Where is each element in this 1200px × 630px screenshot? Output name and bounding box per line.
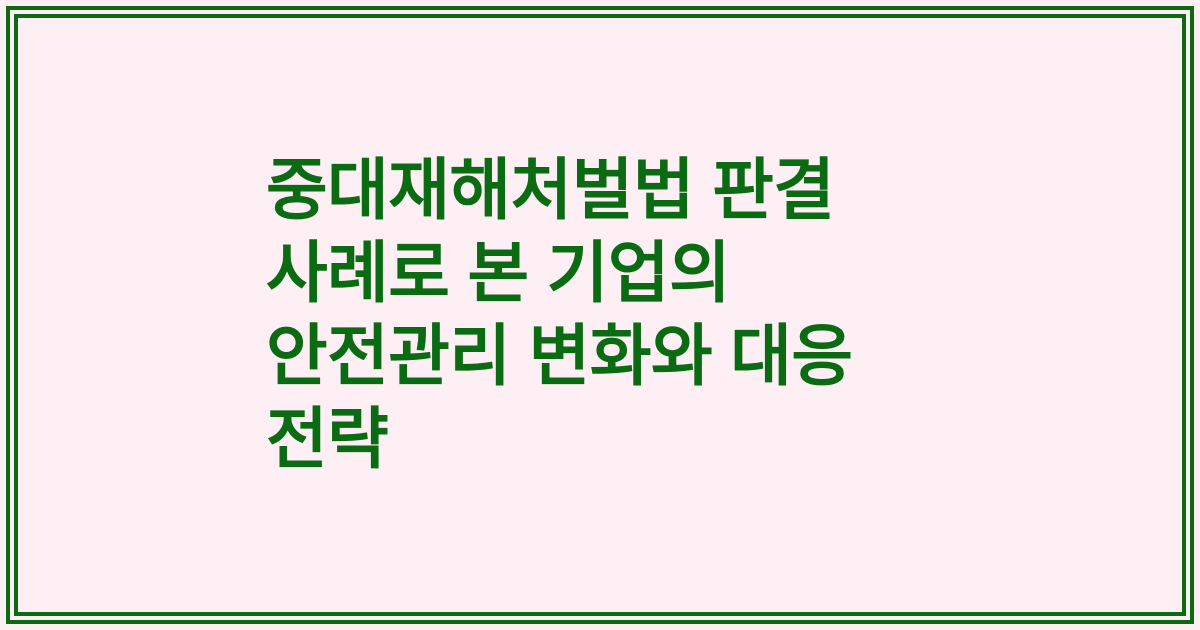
page-title: 중대재해처벌법 판결 사례로 본 기업의 안전관리 변화와 대응 전략 xyxy=(266,149,956,481)
inner-green-rule: 중대재해처벌법 판결 사례로 본 기업의 안전관리 변화와 대응 전략 xyxy=(14,14,1186,616)
poster-canvas: 중대재해처벌법 판결 사례로 본 기업의 안전관리 변화와 대응 전략 xyxy=(0,0,1200,630)
title-block: 중대재해처벌법 판결 사례로 본 기업의 안전관리 변화와 대응 전략 xyxy=(18,149,1182,481)
outer-green-rule: 중대재해처벌법 판결 사례로 본 기업의 안전관리 변화와 대응 전략 xyxy=(6,6,1194,624)
